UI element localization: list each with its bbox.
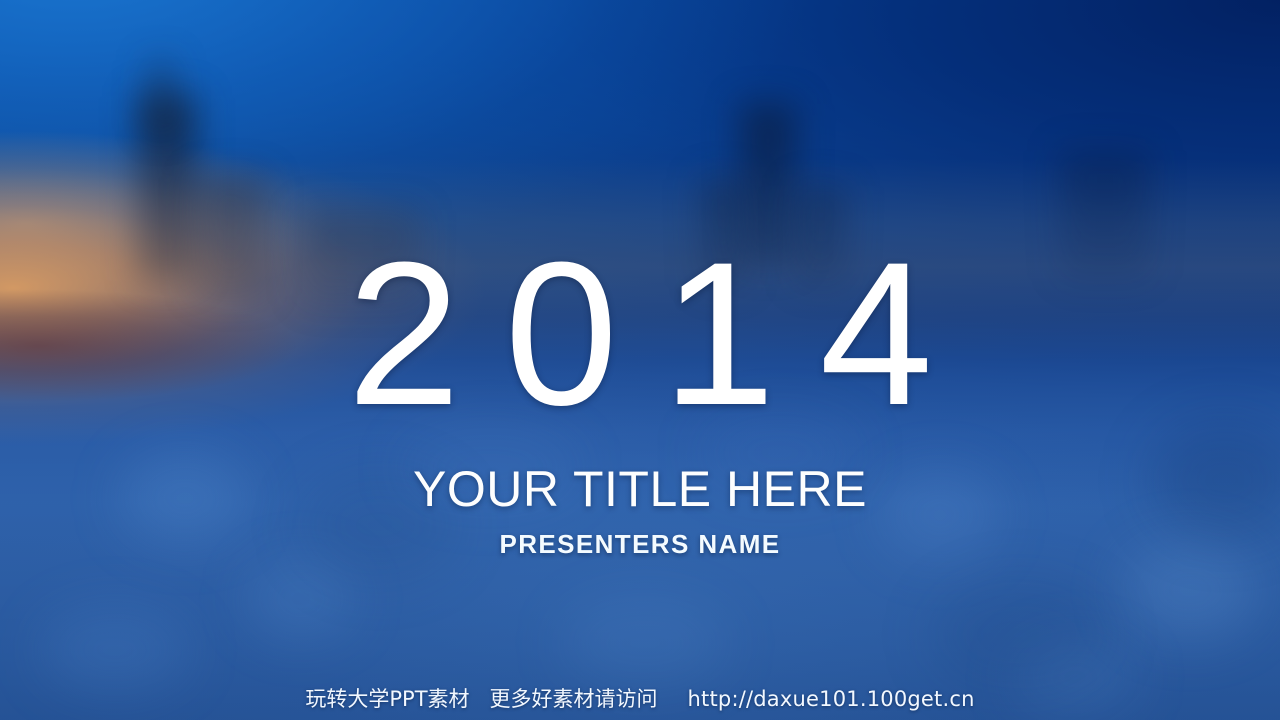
footer-site-label: 玩转大学PPT素材 bbox=[305, 686, 469, 712]
slide-content: 2014 YOUR TITLE HERE PRESENTERS NAME 玩转大… bbox=[0, 0, 1280, 720]
year-heading: 2014 bbox=[0, 232, 1280, 436]
slide-title: YOUR TITLE HERE bbox=[0, 462, 1280, 516]
footer-credit: 玩转大学PPT素材更多好素材请访问http://daxue101.100get.… bbox=[0, 686, 1280, 712]
footer-tagline: 更多好素材请访问 bbox=[490, 686, 658, 712]
footer-url[interactable]: http://daxue101.100get.cn bbox=[688, 686, 975, 712]
title-slide: 2014 YOUR TITLE HERE PRESENTERS NAME 玩转大… bbox=[0, 0, 1280, 720]
presenter-name: PRESENTERS NAME bbox=[0, 529, 1280, 559]
